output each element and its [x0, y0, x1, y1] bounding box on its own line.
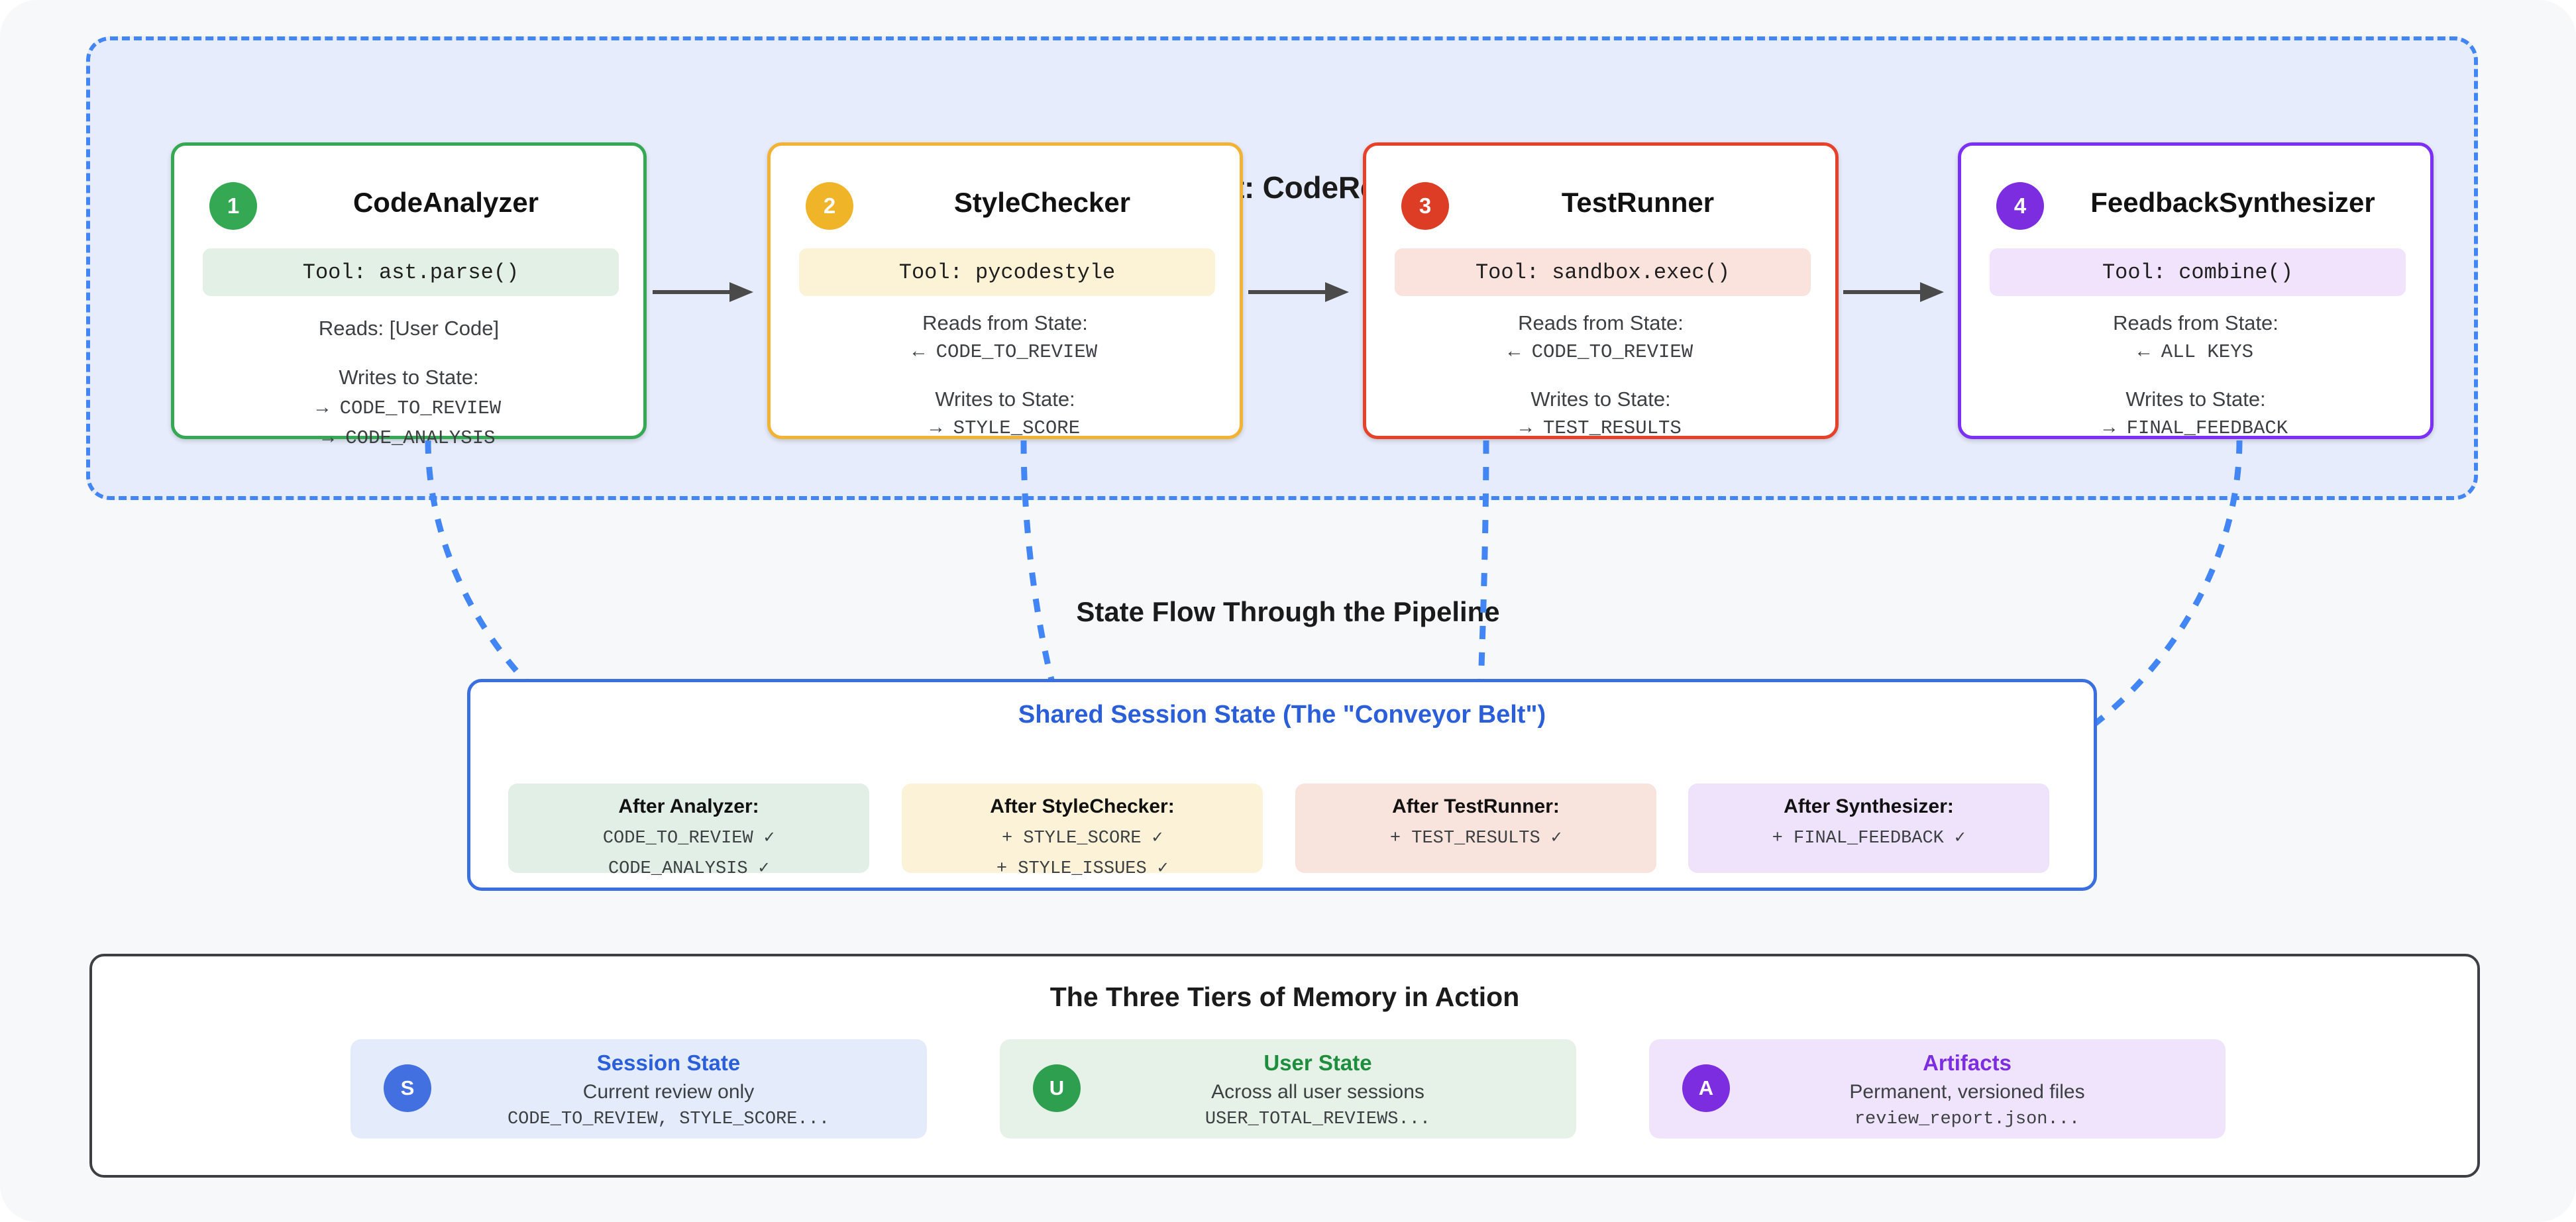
state-snapshot-title: After Analyzer: [508, 795, 869, 818]
state-snapshot-chip: After Synthesizer: + FINAL_FEEDBACK ✓ [1688, 784, 2049, 873]
agent-name: FeedbackSynthesizer [2047, 187, 2418, 219]
state-snapshot-key: + STYLE_SCORE ✓ [902, 827, 1263, 848]
agent-reads-label: Reads: [User Code] [174, 317, 643, 340]
agent-tool-chip: Tool: ast.parse() [203, 248, 619, 296]
agent-name: StyleChecker [857, 187, 1228, 219]
shared-session-state-box: Shared Session State (The "Conveyor Belt… [467, 679, 2097, 891]
agent-reads-key: ← CODE_TO_REVIEW [771, 341, 1240, 363]
state-snapshot-title: After TestRunner: [1295, 795, 1656, 818]
state-flow-heading: State Flow Through the Pipeline [0, 596, 2576, 628]
memory-tiers-panel: The Three Tiers of Memory in Action S Se… [89, 954, 2480, 1178]
memory-tier-session-state[interactable]: S Session State Current review only CODE… [350, 1039, 927, 1139]
agent-name: TestRunner [1452, 187, 1823, 219]
state-snapshot-key: + TEST_RESULTS ✓ [1295, 827, 1656, 848]
agent-step-badge: 1 [209, 182, 257, 230]
arrow-right-icon [1248, 281, 1349, 303]
agent-card-feedback-synthesizer[interactable]: 4 FeedbackSynthesizer Tool: combine() Re… [1958, 142, 2434, 439]
state-snapshot-chip: After TestRunner: + TEST_RESULTS ✓ [1295, 784, 1656, 873]
agent-writes-key: → STYLE_SCORE [771, 417, 1240, 439]
tier-text-block: Session State Current review only CODE_T… [437, 1050, 900, 1129]
agent-tool-chip: Tool: sandbox.exec() [1395, 248, 1811, 296]
state-snapshot-chip: After StyleChecker: + STYLE_SCORE ✓ + ST… [902, 784, 1263, 873]
agent-card-test-runner[interactable]: 3 TestRunner Tool: sandbox.exec() Reads … [1363, 142, 1839, 439]
tier-description: Across all user sessions [1086, 1081, 1550, 1103]
agent-writes-label: Writes to State: [174, 366, 643, 389]
agent-writes-label: Writes to State: [1366, 387, 1835, 411]
memory-tiers-title: The Three Tiers of Memory in Action [92, 982, 2477, 1013]
agent-reads-label: Reads from State: [771, 311, 1240, 335]
agent-reads-label: Reads from State: [1366, 311, 1835, 335]
agent-reads-key: ← CODE_TO_REVIEW [1366, 341, 1835, 363]
agent-step-badge: 4 [1996, 182, 2044, 230]
tier-name: User State [1086, 1050, 1550, 1076]
agent-step-badge: 2 [806, 182, 853, 230]
state-snapshot-title: After StyleChecker: [902, 795, 1263, 818]
agent-card-code-analyzer[interactable]: 1 CodeAnalyzer Tool: ast.parse() Reads: … [171, 142, 647, 439]
tier-badge-icon: A [1682, 1064, 1730, 1112]
diagram-canvas: SequentialAgent: CodeReviewPipeline 1 Co… [0, 0, 2576, 1222]
agent-writes-key: → TEST_RESULTS [1366, 417, 1835, 439]
agent-card-style-checker[interactable]: 2 StyleChecker Tool: pycodestyle Reads f… [767, 142, 1243, 439]
memory-tier-artifacts[interactable]: A Artifacts Permanent, versioned files r… [1649, 1039, 2226, 1139]
state-snapshot-key: CODE_ANALYSIS ✓ [508, 857, 869, 879]
agent-reads-label: Reads from State: [1961, 311, 2430, 335]
agent-writes-key: → CODE_TO_REVIEW [174, 397, 643, 419]
state-snapshot-key: + STYLE_ISSUES ✓ [902, 857, 1263, 879]
agent-writes-label: Writes to State: [771, 387, 1240, 411]
agent-reads-key: ← ALL KEYS [1961, 341, 2430, 363]
tier-keys: USER_TOTAL_REVIEWS... [1086, 1109, 1550, 1129]
tier-keys: review_report.json... [1735, 1109, 2199, 1129]
tier-name: Session State [437, 1050, 900, 1076]
shared-session-state-title: Shared Session State (The "Conveyor Belt… [470, 701, 2094, 729]
arrow-right-icon [653, 281, 753, 303]
state-snapshot-chip: After Analyzer: CODE_TO_REVIEW ✓ CODE_AN… [508, 784, 869, 873]
tier-badge-icon: S [384, 1064, 431, 1112]
tier-badge-icon: U [1033, 1064, 1081, 1112]
state-snapshot-title: After Synthesizer: [1688, 795, 2049, 818]
agent-writes-key: → FINAL_FEEDBACK [1961, 417, 2430, 439]
tier-name: Artifacts [1735, 1050, 2199, 1076]
tier-description: Current review only [437, 1081, 900, 1103]
tier-text-block: User State Across all user sessions USER… [1086, 1050, 1550, 1129]
agent-step-badge: 3 [1401, 182, 1449, 230]
tier-keys: CODE_TO_REVIEW, STYLE_SCORE... [437, 1109, 900, 1129]
agent-writes-key: → CODE_ANALYSIS [174, 427, 643, 449]
tier-text-block: Artifacts Permanent, versioned files rev… [1735, 1050, 2199, 1129]
state-snapshot-key: + FINAL_FEEDBACK ✓ [1688, 827, 2049, 848]
arrow-right-icon [1843, 281, 1944, 303]
agent-writes-label: Writes to State: [1961, 387, 2430, 411]
agent-name: CodeAnalyzer [260, 187, 631, 219]
state-snapshot-key: CODE_TO_REVIEW ✓ [508, 827, 869, 848]
memory-tier-user-state[interactable]: U User State Across all user sessions US… [1000, 1039, 1576, 1139]
agent-tool-chip: Tool: combine() [1990, 248, 2406, 296]
tier-description: Permanent, versioned files [1735, 1081, 2199, 1103]
agent-tool-chip: Tool: pycodestyle [799, 248, 1215, 296]
